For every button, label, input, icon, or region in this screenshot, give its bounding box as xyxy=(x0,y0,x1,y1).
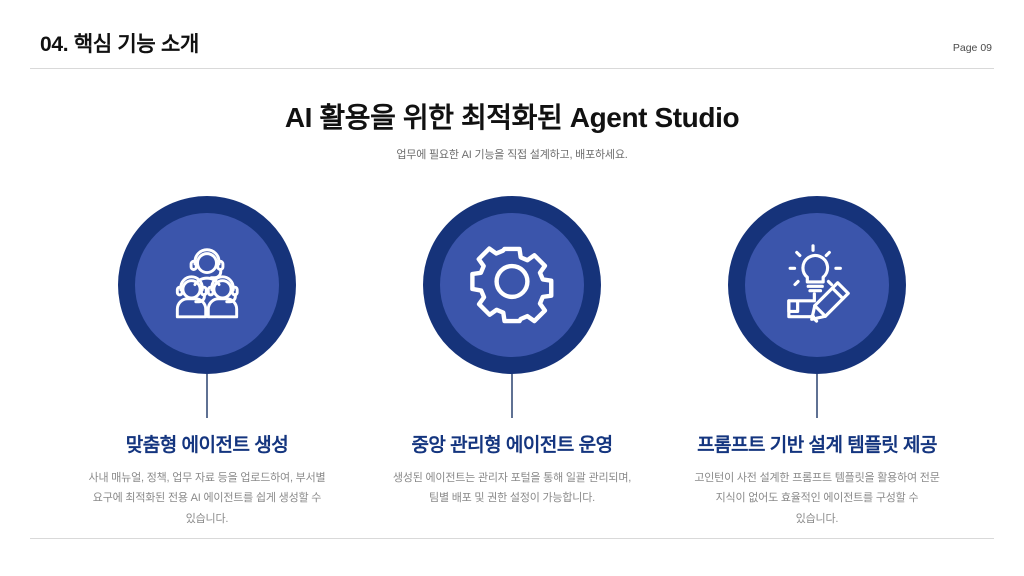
page-number-label: Page 09 xyxy=(953,42,992,54)
footer-divider xyxy=(30,538,994,539)
header-divider xyxy=(30,68,994,69)
feature-heading-1: 맞춤형 에이전트 생성 xyxy=(126,430,288,457)
feature-column-1: 맞춤형 에이전트 생성 사내 매뉴얼, 정책, 업무 자료 등을 업로드하여, … xyxy=(55,196,360,529)
section-title: 04. 핵심 기능 소개 xyxy=(40,28,199,58)
lightbulb-pencil-icon xyxy=(773,241,861,329)
slide-header: 04. 핵심 기능 소개 Page 09 xyxy=(0,0,1024,70)
gear-icon xyxy=(468,241,556,329)
feature-column-2: 중앙 관리형 에이전트 운영 생성된 에이전트는 관리자 포털을 통해 일괄 관… xyxy=(360,196,665,529)
feature-badge-1 xyxy=(118,196,296,374)
feature-body-3: 고인턴이 사전 설계한 프롬프트 템플릿을 활용하여 전문 지식이 없어도 효율… xyxy=(693,468,941,529)
feature-column-3: 프롬프트 기반 설계 템플릿 제공 고인턴이 사전 설계한 프롬프트 템플릿을 … xyxy=(665,196,970,529)
badge-inner-2 xyxy=(440,213,584,357)
badge-inner-1 xyxy=(135,213,279,357)
feature-heading-2: 중앙 관리형 에이전트 운영 xyxy=(411,430,612,457)
page-title: AI 활용을 위한 최적화된 Agent Studio xyxy=(0,100,1024,135)
slide-canvas: 04. 핵심 기능 소개 Page 09 AI 활용을 위한 최적화된 Agen… xyxy=(0,0,1024,576)
feature-body-1: 사내 매뉴얼, 정책, 업무 자료 등을 업로드하여, 부서별 요구에 최적화된… xyxy=(83,468,331,529)
connector-line-1 xyxy=(206,374,208,418)
title-block: AI 활용을 위한 최적화된 Agent Studio 업무에 필요한 AI 기… xyxy=(0,100,1024,162)
feature-body-2: 생성된 에이전트는 관리자 포털을 통해 일괄 관리되며, 팀별 배포 및 권한… xyxy=(388,468,636,509)
people-headset-icon xyxy=(164,242,250,328)
page-subtitle: 업무에 필요한 AI 기능을 직접 설계하고, 배포하세요. xyxy=(0,146,1024,162)
connector-line-2 xyxy=(511,374,513,418)
feature-badge-2 xyxy=(423,196,601,374)
feature-heading-3: 프롬프트 기반 설계 템플릿 제공 xyxy=(697,430,937,457)
feature-badge-3 xyxy=(728,196,906,374)
badge-inner-3 xyxy=(745,213,889,357)
feature-columns: 맞춤형 에이전트 생성 사내 매뉴얼, 정책, 업무 자료 등을 업로드하여, … xyxy=(0,196,1024,529)
connector-line-3 xyxy=(816,374,818,418)
